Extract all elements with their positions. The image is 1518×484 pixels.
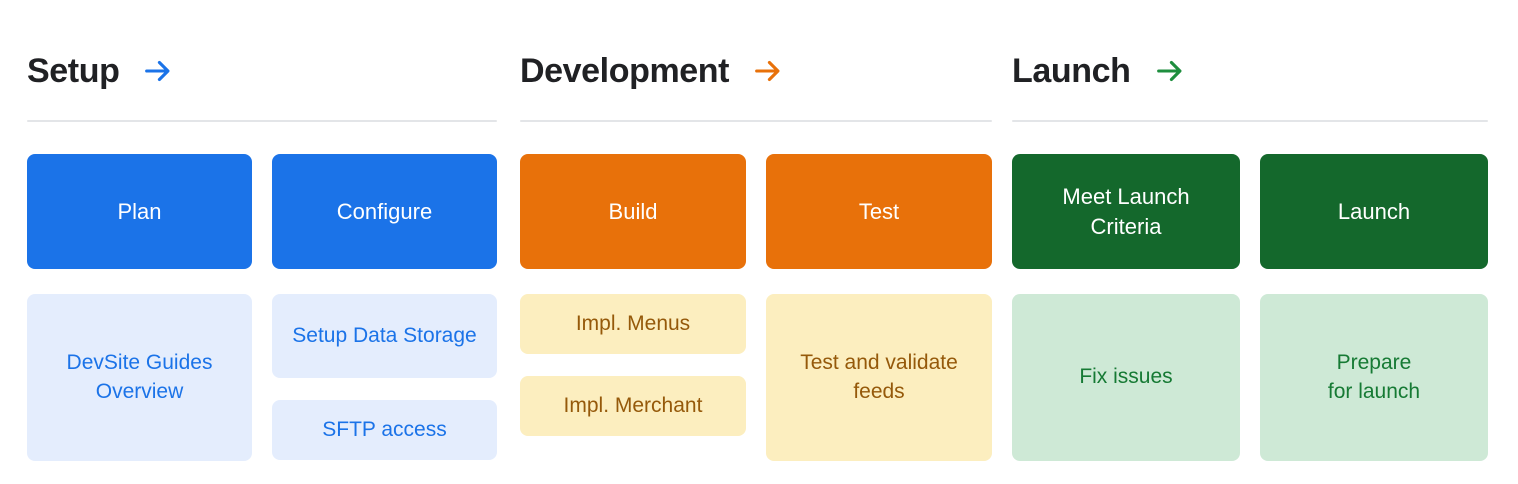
step-card-test[interactable]: Test — [766, 154, 992, 269]
arrow-right-icon — [141, 54, 175, 88]
phase-header-development: Development — [520, 0, 992, 120]
subtask-card[interactable]: Test and validate feeds — [766, 294, 992, 461]
phase-divider-setup — [27, 120, 497, 122]
phase-header-launch: Launch — [1012, 0, 1490, 120]
track-meet-launch-criteria: Meet Launch Criteria Fix issues — [1012, 154, 1240, 461]
subtask-stack-meet-launch-criteria: Fix issues — [1012, 294, 1240, 461]
phase-tracks-launch: Meet Launch Criteria Fix issues Launch P… — [1012, 154, 1490, 461]
phase-column-setup: Setup Plan DevSite Guides Overview Confi… — [0, 0, 497, 484]
subtask-card[interactable]: SFTP access — [272, 400, 497, 460]
arrow-right-icon — [1153, 54, 1187, 88]
phase-divider-launch — [1012, 120, 1488, 122]
subtask-stack-configure: Setup Data Storage SFTP access — [272, 294, 497, 460]
step-card-meet-launch-criteria[interactable]: Meet Launch Criteria — [1012, 154, 1240, 269]
subtask-card[interactable]: Setup Data Storage — [272, 294, 497, 378]
phase-title-setup: Setup — [27, 54, 119, 88]
step-card-build[interactable]: Build — [520, 154, 746, 269]
arrow-right-icon — [751, 54, 785, 88]
track-plan: Plan DevSite Guides Overview — [27, 154, 252, 461]
phase-tracks-setup: Plan DevSite Guides Overview Configure S… — [27, 154, 497, 461]
track-launch: Launch Preparefor launch — [1260, 154, 1488, 461]
phase-header-setup: Setup — [27, 0, 497, 120]
subtask-stack-build: Impl. Menus Impl. Merchant — [520, 294, 746, 436]
phase-column-launch: Launch Meet Launch Criteria Fix issues L… — [992, 0, 1518, 484]
step-card-plan[interactable]: Plan — [27, 154, 252, 269]
phase-column-development: Development Build Impl. Menus Impl. Merc… — [497, 0, 992, 484]
subtask-card[interactable]: Impl. Menus — [520, 294, 746, 354]
track-test: Test Test and validate feeds — [766, 154, 992, 461]
phase-title-launch: Launch — [1012, 54, 1131, 88]
subtask-stack-plan: DevSite Guides Overview — [27, 294, 252, 461]
subtask-card[interactable]: DevSite Guides Overview — [27, 294, 252, 461]
phase-title-development: Development — [520, 54, 729, 88]
subtask-stack-launch: Preparefor launch — [1260, 294, 1488, 461]
subtask-card[interactable]: Preparefor launch — [1260, 294, 1488, 461]
subtask-stack-test: Test and validate feeds — [766, 294, 992, 461]
track-configure: Configure Setup Data Storage SFTP access — [272, 154, 497, 461]
step-card-launch[interactable]: Launch — [1260, 154, 1488, 269]
roadmap-board: Setup Plan DevSite Guides Overview Confi… — [0, 0, 1518, 484]
track-build: Build Impl. Menus Impl. Merchant — [520, 154, 746, 461]
step-card-configure[interactable]: Configure — [272, 154, 497, 269]
phase-tracks-development: Build Impl. Menus Impl. Merchant Test Te… — [520, 154, 992, 461]
phase-divider-development — [520, 120, 992, 122]
subtask-card[interactable]: Fix issues — [1012, 294, 1240, 461]
subtask-card[interactable]: Impl. Merchant — [520, 376, 746, 436]
